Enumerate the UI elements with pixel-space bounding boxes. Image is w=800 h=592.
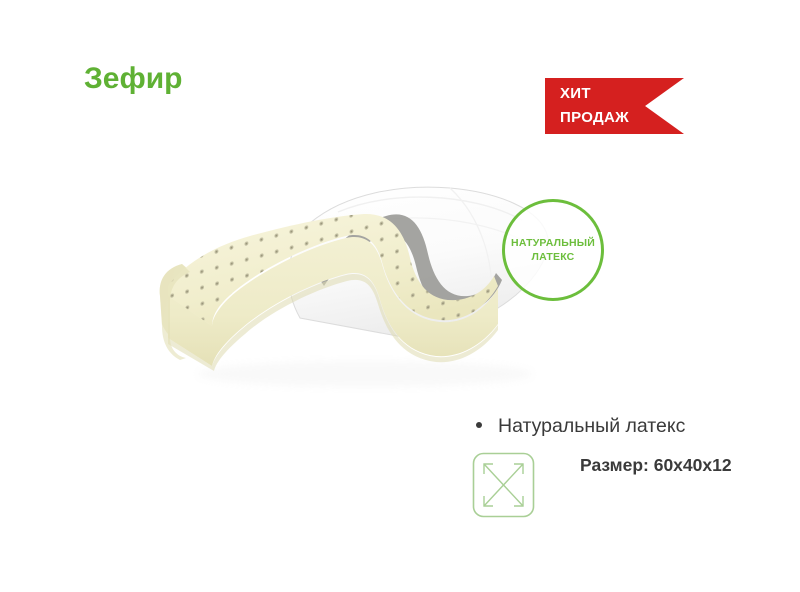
size-label: Размер: 60x40x12 [580, 455, 732, 476]
hit-sales-badge [545, 78, 684, 134]
resize-diagonal-icon [472, 452, 535, 518]
natural-latex-badge-line1: НАТУРАЛЬНЫЙ [511, 236, 595, 250]
bullet-icon [476, 422, 482, 428]
feature-list-item: Натуральный латекс [476, 415, 685, 438]
page-title: Зефир [84, 62, 183, 96]
feature-label: Натуральный латекс [498, 415, 685, 438]
natural-latex-badge-line2: ЛАТЕКС [532, 250, 575, 264]
pillow-illustration [150, 168, 550, 393]
product-image [150, 168, 550, 393]
natural-latex-badge: НАТУРАЛЬНЫЙ ЛАТЕКС [502, 199, 604, 301]
product-card: Зефир ХИТ ПРОДАЖ [0, 0, 800, 592]
